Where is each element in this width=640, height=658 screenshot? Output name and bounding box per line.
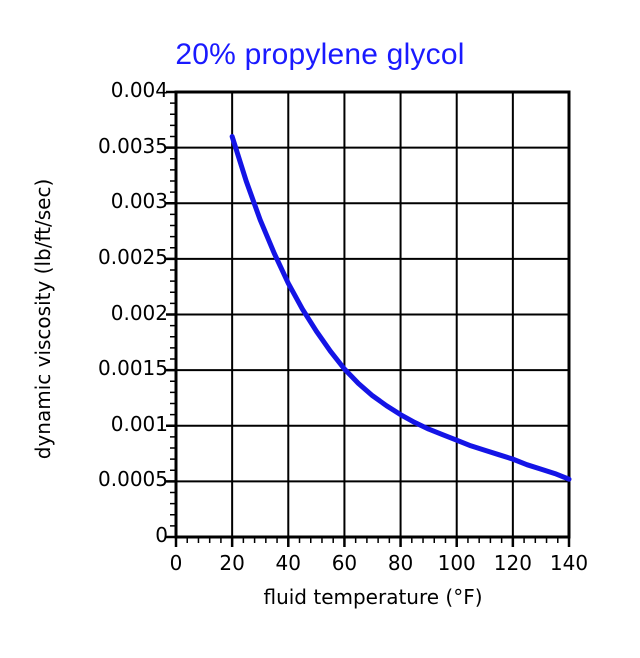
axis-ticks	[166, 92, 569, 547]
grid-lines	[176, 92, 569, 537]
chart-figure: 20% propylene glycol dynamic viscosity (…	[0, 0, 640, 658]
plot-area	[0, 0, 640, 658]
